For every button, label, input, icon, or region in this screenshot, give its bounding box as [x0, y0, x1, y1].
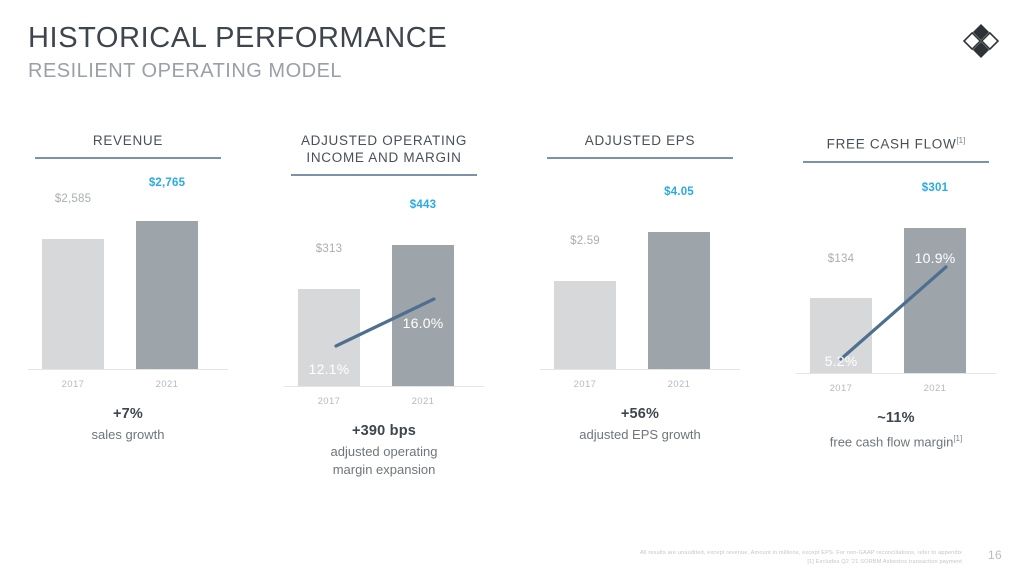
panel-caption: +7% sales growth — [13, 406, 243, 444]
x-tick-2017: 2017 — [540, 379, 630, 390]
panel-adjusted-operating-income: ADJUSTED OPERATING INCOME AND MARGIN $31… — [256, 132, 512, 492]
bar-chart: $2,585 $2,765 2017 2021 — [28, 177, 228, 392]
footnotes: All results are unaudited, except revenu… — [640, 549, 962, 566]
caption-description: adjusted EPS growth — [525, 426, 755, 444]
x-tick-2021: 2021 — [122, 379, 212, 390]
bar-value-label-2021: $2,765 — [122, 177, 212, 189]
x-tick-2021: 2021 — [890, 383, 980, 394]
bar-chart: $2.59 $4.05 2017 2021 — [540, 177, 740, 392]
inbar-margin-2017: 12.1% — [298, 361, 360, 377]
x-tick-2017: 2017 — [796, 383, 886, 394]
panel-title-text: FREE CASH FLOW — [827, 137, 957, 152]
panel-underline — [803, 161, 989, 163]
bar-chart: $134 $301 5.2% 10.9% 2017 2021 — [796, 181, 996, 396]
bar-value-label-2017: $313 — [284, 243, 374, 255]
footnote-marker: [1] — [953, 434, 962, 443]
panel-title: FREE CASH FLOW[1] — [827, 132, 966, 153]
panel-title: ADJUSTED OPERATING INCOME AND MARGIN — [301, 132, 467, 166]
caption-headline: +56% — [525, 406, 755, 422]
panel-header: ADJUSTED OPERATING INCOME AND MARGIN — [291, 132, 477, 167]
axis-baseline — [284, 386, 484, 387]
panel-underline — [35, 157, 221, 159]
footnote-line-1: All results are unaudited, except revenu… — [640, 549, 962, 558]
bar-value-label-2021: $4.05 — [634, 186, 724, 198]
caption-description-text: free cash flow margin — [830, 434, 954, 449]
caption-description: free cash flow margin[1] — [781, 430, 1011, 451]
bar-value-label-2021: $301 — [890, 182, 980, 194]
inbar-margin-2017: 5.2% — [810, 353, 872, 369]
panel-underline — [547, 157, 733, 159]
slide: HISTORICAL PERFORMANCE RESILIENT OPERATI… — [0, 0, 1024, 576]
chart-panels: REVENUE $2,585 $2,765 2017 2021 +7% sale… — [0, 132, 1024, 492]
company-diamond-logo — [960, 20, 1002, 62]
panel-title: ADJUSTED EPS — [585, 132, 695, 149]
panel-caption: +56% adjusted EPS growth — [525, 406, 755, 444]
panel-revenue: REVENUE $2,585 $2,765 2017 2021 +7% sale… — [0, 132, 256, 492]
inbar-margin-2021: 10.9% — [904, 250, 966, 266]
panel-header: FREE CASH FLOW[1] — [803, 132, 989, 154]
panel-free-cash-flow: FREE CASH FLOW[1] $134 $301 5.2% 10.9% 2… — [768, 132, 1024, 492]
axis-baseline — [540, 369, 740, 370]
axis-baseline — [28, 369, 228, 370]
footnote-line-2: [1] Excludes Q2 '21 SORBM Asbestos trans… — [640, 558, 962, 567]
bar-2021 — [648, 232, 710, 369]
panel-underline — [291, 174, 477, 176]
bar-2017 — [42, 239, 104, 369]
page-subtitle: RESILIENT OPERATING MODEL — [28, 60, 342, 83]
bar-2017 — [554, 281, 616, 369]
panel-adjusted-eps: ADJUSTED EPS $2.59 $4.05 2017 2021 +56% … — [512, 132, 768, 492]
caption-headline: +390 bps — [269, 423, 499, 439]
panel-header: REVENUE — [35, 132, 221, 150]
panel-caption: +390 bps adjusted operating margin expan… — [269, 423, 499, 479]
axis-baseline — [796, 373, 996, 374]
inbar-margin-2021: 16.0% — [392, 315, 454, 331]
x-tick-2017: 2017 — [284, 396, 374, 407]
x-tick-2017: 2017 — [28, 379, 118, 390]
caption-headline: ~11% — [781, 410, 1011, 426]
panel-title: REVENUE — [93, 132, 163, 149]
bar-value-label-2021: $443 — [378, 199, 468, 211]
x-tick-2021: 2021 — [634, 379, 724, 390]
footnote-marker: [1] — [956, 136, 965, 145]
x-tick-2021: 2021 — [378, 396, 468, 407]
bar-value-label-2017: $2,585 — [28, 193, 118, 205]
page-title: HISTORICAL PERFORMANCE — [28, 22, 447, 55]
bar-value-label-2017: $2.59 — [540, 235, 630, 247]
panel-caption: ~11% free cash flow margin[1] — [781, 410, 1011, 451]
caption-headline: +7% — [13, 406, 243, 422]
bar-value-label-2017: $134 — [796, 253, 886, 265]
bar-chart: $313 $443 12.1% 16.0% 2017 2021 — [284, 194, 484, 409]
panel-header: ADJUSTED EPS — [547, 132, 733, 150]
caption-description: sales growth — [13, 426, 243, 444]
page-number: 16 — [988, 548, 1002, 562]
bar-2021 — [136, 221, 198, 369]
caption-description: adjusted operating margin expansion — [269, 443, 499, 479]
